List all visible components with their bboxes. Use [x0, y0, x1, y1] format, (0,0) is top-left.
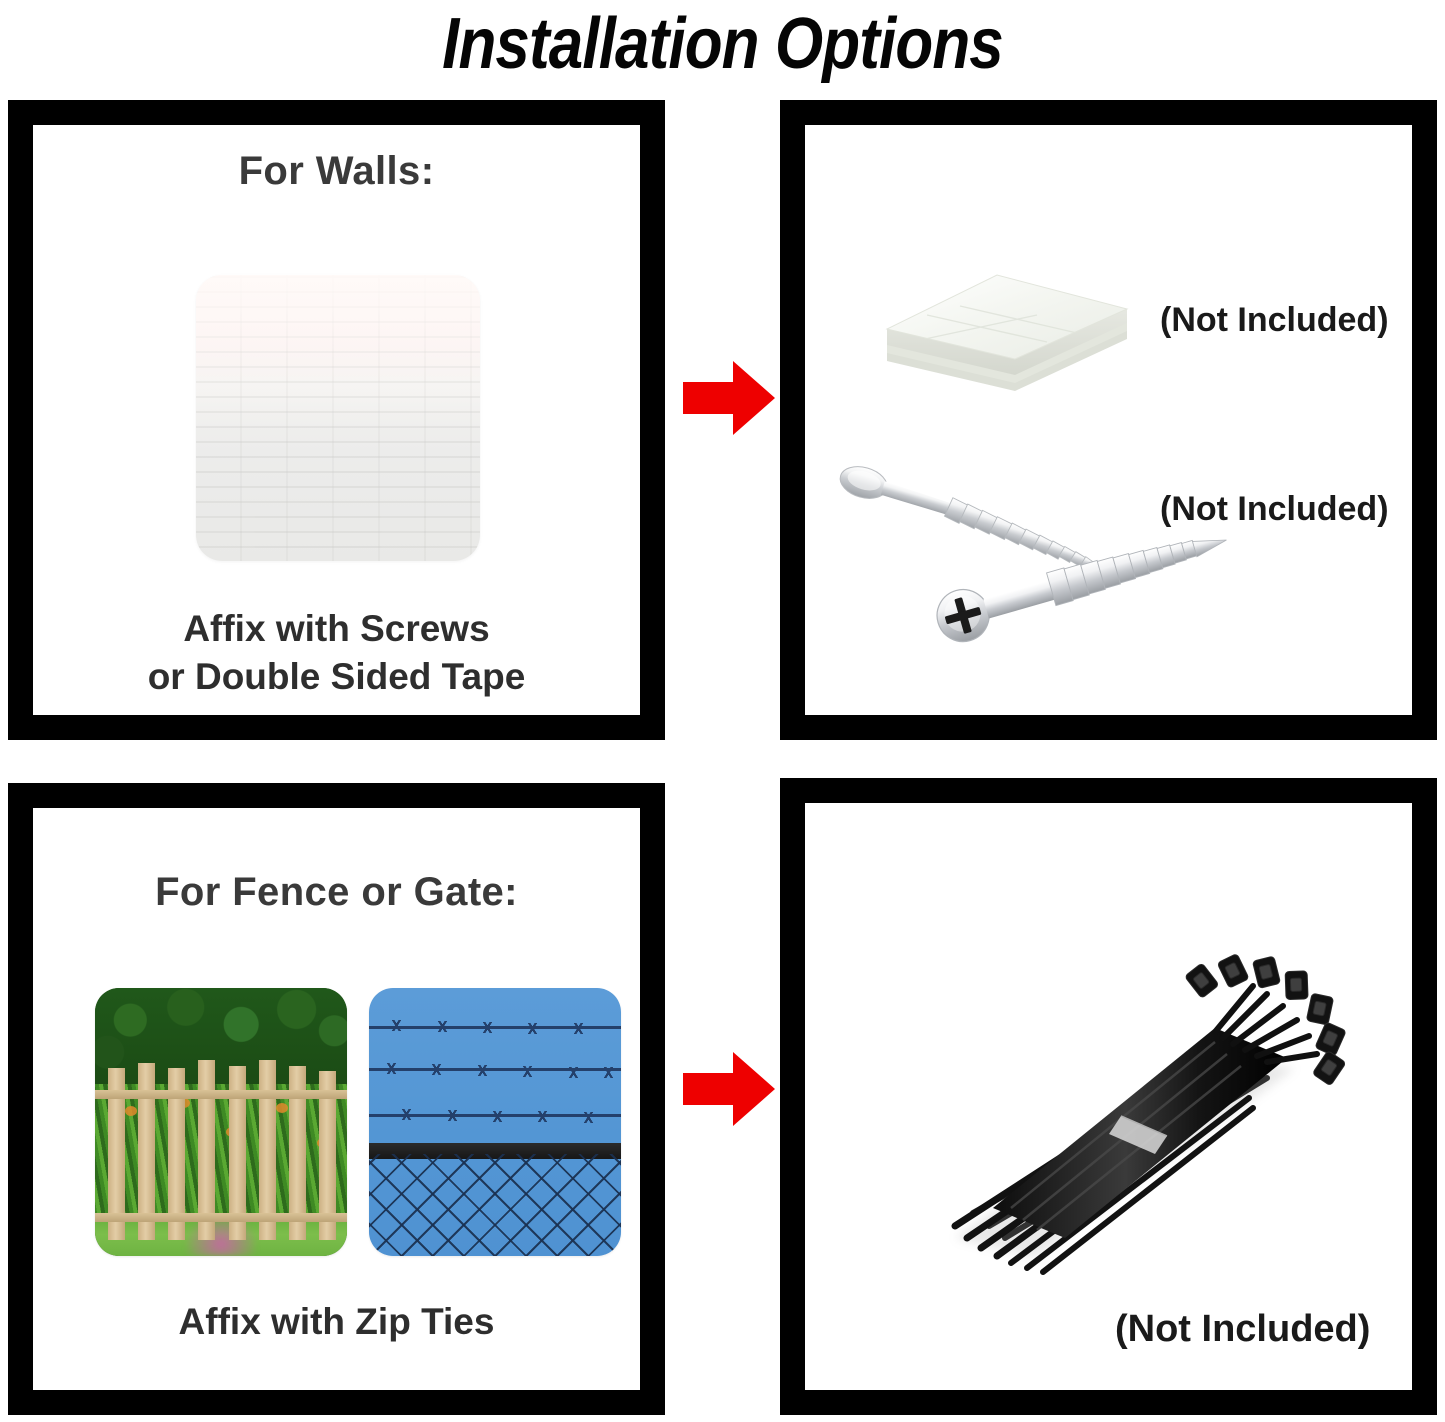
red-arrow-right-icon [683, 1048, 775, 1130]
page-title: Installation Options [101, 2, 1344, 86]
chain-link-barbed-wire-fence-image [369, 988, 621, 1256]
panel-for-walls: For Walls: Affix with Screws or Double S… [8, 100, 665, 740]
panel-walls-caption-line2: or Double Sided Tape [33, 653, 640, 701]
black-zip-tie-bundle-image [915, 908, 1385, 1308]
wood-screw-lower-image [925, 535, 1265, 655]
wooden-picket-fence-image [95, 988, 347, 1256]
double-sided-tape-stack-image [865, 243, 1145, 423]
panel-for-fence-or-gate: For Fence or Gate: [8, 783, 665, 1415]
panel-wall-hardware: (Not Included) [780, 100, 1437, 740]
panel-walls-heading: For Walls: [33, 149, 640, 194]
red-arrow-right-icon [683, 357, 775, 439]
panel-fence-caption: Affix with Zip Ties [33, 1298, 640, 1346]
zipties-not-included-label: (Not Included) [1115, 1308, 1370, 1351]
panel-zip-ties: (Not Included) [780, 778, 1437, 1415]
whitewashed-brick-wall-image [196, 275, 480, 561]
panel-walls-caption-line1: Affix with Screws [33, 605, 640, 653]
tape-not-included-label: (Not Included) [1160, 301, 1389, 340]
panel-fence-heading: For Fence or Gate: [33, 870, 640, 915]
screws-not-included-label: (Not Included) [1160, 490, 1389, 529]
